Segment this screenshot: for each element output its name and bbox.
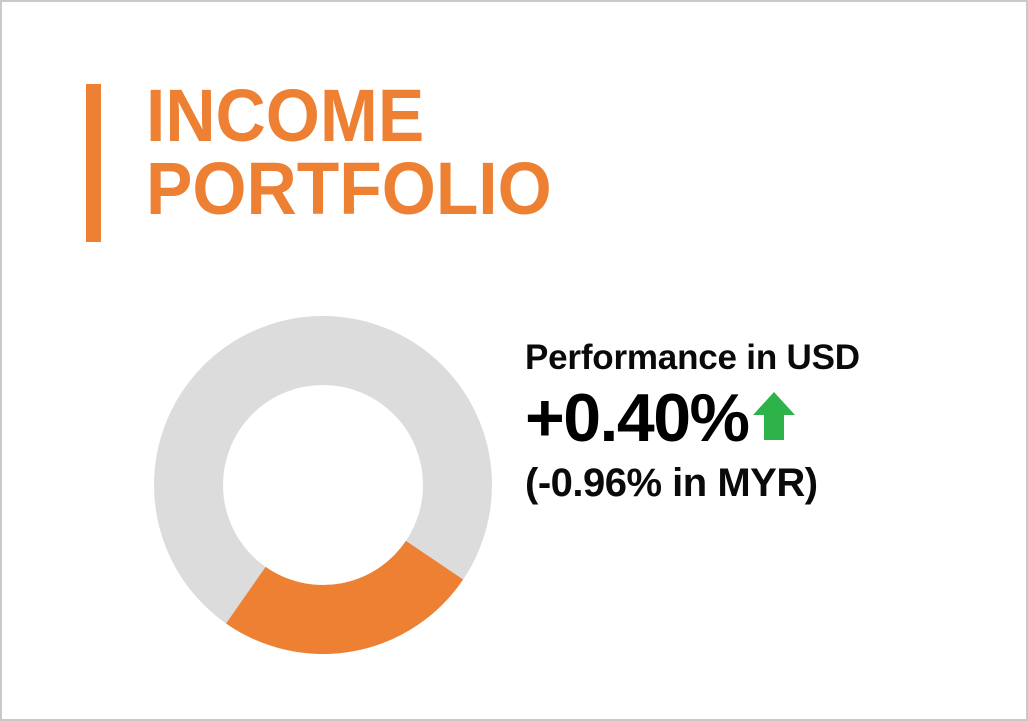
title-accent-bar	[86, 84, 101, 242]
performance-label: Performance in USD	[525, 339, 995, 376]
arrow-up-icon	[751, 390, 797, 442]
portfolio-card: INCOME PORTFOLIO Performance in USD +0.4…	[0, 0, 1028, 721]
performance-panel: Performance in USD +0.40% (-0.96% in MYR…	[525, 339, 995, 504]
performance-main-row: +0.40%	[525, 384, 995, 452]
donut-segment-allocated	[246, 560, 435, 619]
allocation-donut-chart	[154, 316, 492, 654]
performance-value: +0.40%	[525, 384, 749, 452]
page-header: INCOME PORTFOLIO	[86, 80, 578, 242]
donut-svg	[154, 316, 492, 654]
page-title: INCOME PORTFOLIO	[146, 80, 552, 225]
performance-secondary-value: (-0.96% in MYR)	[525, 462, 995, 504]
